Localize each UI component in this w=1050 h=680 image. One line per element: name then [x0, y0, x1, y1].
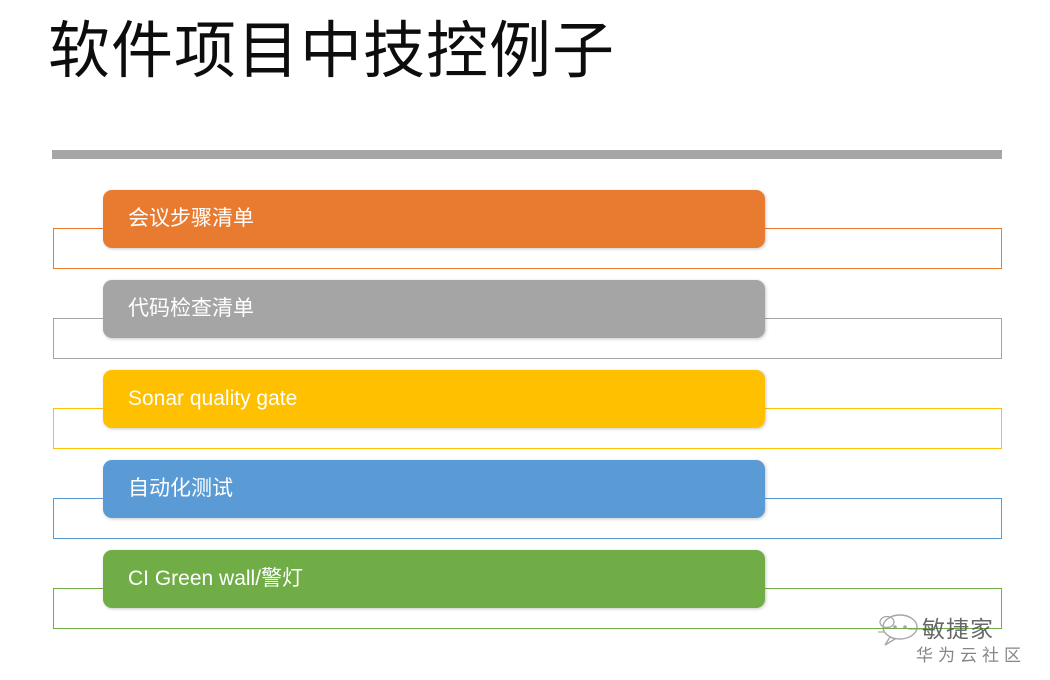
row-bar-1[interactable]: 会议步骤清单 [103, 190, 765, 248]
list-item: 代码检查清单 [0, 280, 1050, 370]
row-bar-5[interactable]: CI Green wall/警灯 [103, 550, 765, 608]
page-title: 软件项目中技控例子 [48, 4, 948, 100]
row-bar-4[interactable]: 自动化测试 [103, 460, 765, 518]
watermark-subtitle: 华为云社区 [916, 641, 1026, 666]
list-item: 自动化测试 [0, 460, 1050, 550]
row-label-4: 自动化测试 [128, 460, 233, 518]
watermark-brand: 敏捷家 [922, 610, 994, 644]
row-label-5: CI Green wall/警灯 [128, 550, 303, 608]
list-item: 会议步骤清单 [0, 190, 1050, 280]
presentation-slide: 软件项目中技控例子 会议步骤清单 代码检查清单 Sonar quality ga… [0, 0, 1050, 680]
watermark: 敏捷家 华为云社区 [878, 608, 1043, 674]
row-label-2: 代码检查清单 [128, 280, 254, 338]
title-divider-rule [52, 150, 1002, 159]
row-bar-2[interactable]: 代码检查清单 [103, 280, 765, 338]
list-item: Sonar quality gate [0, 370, 1050, 460]
row-label-3: Sonar quality gate [128, 370, 297, 428]
row-bar-3[interactable]: Sonar quality gate [103, 370, 765, 428]
row-label-1: 会议步骤清单 [128, 190, 254, 248]
